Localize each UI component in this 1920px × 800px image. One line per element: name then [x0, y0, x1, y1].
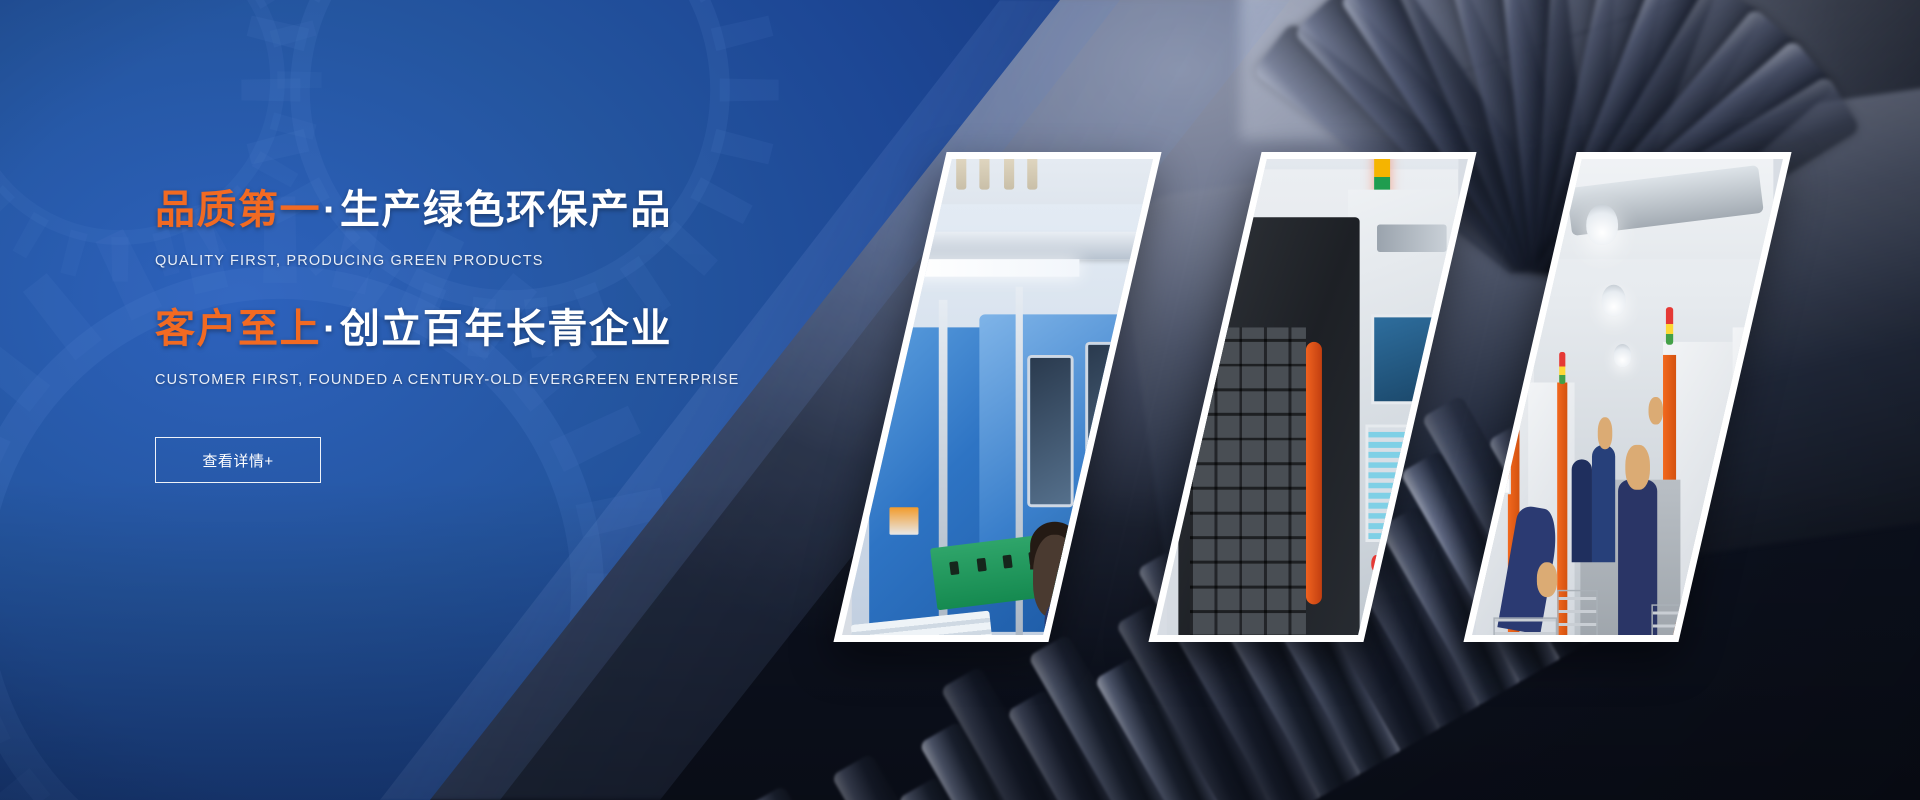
- photo-panel-2-frame: [1157, 159, 1468, 635]
- headline-2-rest: 创立百年长青企业: [340, 307, 672, 351]
- scene-assembly-line: [852, 159, 1143, 635]
- hero-banner: 品质第一·生产绿色环保产品 QUALITY FIRST, PRODUCING G…: [0, 0, 1920, 800]
- headline-1-separator: ·: [321, 188, 340, 232]
- photo-panel-1-frame: [842, 159, 1153, 635]
- photo-panel-3[interactable]: [1463, 152, 1791, 642]
- headline-1-accent: 品质第一: [155, 188, 321, 232]
- subtitle-2: CUSTOMER FIRST, FOUNDED A CENTURY-OLD EV…: [155, 372, 775, 388]
- view-details-button[interactable]: 查看详情+: [155, 437, 321, 483]
- photo-panel-1[interactable]: [833, 152, 1161, 642]
- subtitle-1: QUALITY FIRST, PRODUCING GREEN PRODUCTS: [155, 253, 775, 269]
- headline-1: 品质第一·生产绿色环保产品: [155, 186, 775, 234]
- headline-1-rest: 生产绿色环保产品: [340, 188, 672, 232]
- photo-panel-2[interactable]: [1148, 152, 1476, 642]
- headline-2-accent: 客户至上: [155, 307, 321, 351]
- scene-workshop-aisle: [1482, 159, 1773, 635]
- headline-2: 客户至上·创立百年长青企业: [155, 305, 775, 353]
- headline-2-separator: ·: [321, 307, 340, 351]
- photo-panel-3-frame: [1472, 159, 1783, 635]
- hero-copy: 品质第一·生产绿色环保产品 QUALITY FIRST, PRODUCING G…: [155, 186, 775, 483]
- scene-cnc-machine: [1167, 159, 1458, 635]
